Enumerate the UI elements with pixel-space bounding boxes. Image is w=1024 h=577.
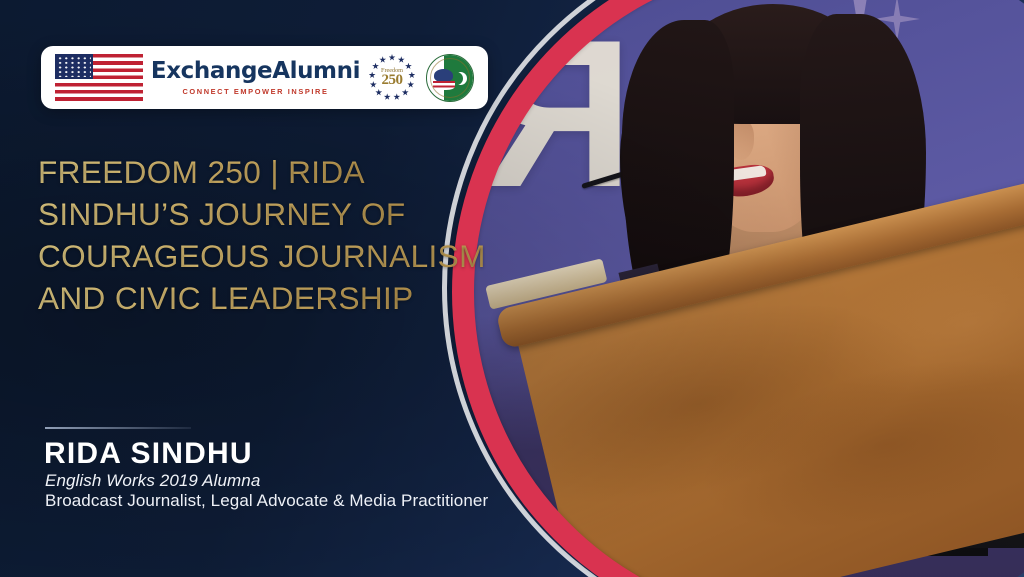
headline-line-3: COURAGEOUS JOURNALISM <box>38 238 486 274</box>
divider-rule <box>45 427 191 429</box>
exchange-alumni-tagline: CONNECT EMPOWER INSPIRE <box>147 87 364 96</box>
seal-rim <box>430 58 470 98</box>
freedom-250-seal-icon: Freedom 250 <box>368 54 416 102</box>
flag-canton <box>55 54 93 79</box>
seal-star-icon <box>402 89 409 96</box>
promo-graphic: MM RR <box>0 0 1024 577</box>
headline: FREEDOM 250 | RIDA SINDHU’S JOURNEY OF C… <box>38 152 508 320</box>
flag-stars <box>57 56 91 77</box>
seal-star-icon <box>389 54 396 61</box>
us-pakistan-alumni-seal-icon <box>426 54 474 102</box>
speaker-role: Broadcast Journalist, Legal Advocate & M… <box>45 491 488 511</box>
headline-line-1: FREEDOM 250 | RIDA <box>38 154 365 190</box>
exchange-alumni-logo: ExchangeAlumni CONNECT EMPOWER INSPIRE <box>143 59 368 95</box>
us-flag-icon <box>55 54 143 101</box>
exchange-alumni-wordmark: ExchangeAlumni <box>147 59 364 83</box>
headline-line-2: SINDHU’S JOURNEY OF <box>38 196 406 232</box>
seal-star-icon <box>379 56 386 63</box>
seal-star-icon <box>375 89 382 96</box>
seal-star-icon <box>398 56 405 63</box>
headline-line-4: AND CIVIC LEADERSHIP <box>38 280 414 316</box>
seal-star-icon <box>393 93 400 100</box>
speaker-program: English Works 2019 Alumna <box>45 471 260 491</box>
seal-star-icon <box>384 93 391 100</box>
logo-bar: ExchangeAlumni CONNECT EMPOWER INSPIRE F… <box>41 46 488 109</box>
seal-250-label: 250 <box>368 73 416 88</box>
speaker-name: RIDA SINDHU <box>44 437 253 471</box>
